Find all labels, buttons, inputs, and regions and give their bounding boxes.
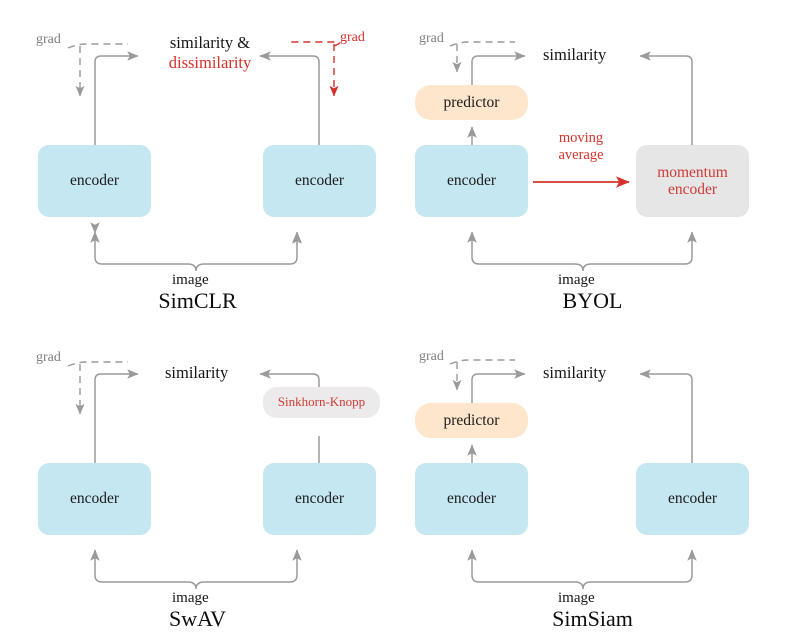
label-grad-left: grad — [36, 32, 61, 48]
label-similarity: similarity & — [160, 33, 260, 53]
box-label: encoder — [295, 172, 344, 189]
label-grad-left: grad — [419, 349, 444, 365]
label-image: image — [172, 590, 209, 607]
panel-simsiam: grad similarity predictor encoder encode… — [395, 318, 790, 636]
label-image: image — [558, 590, 595, 607]
label-grad-left: grad — [36, 350, 61, 366]
label-grad-left: grad — [419, 31, 444, 47]
box-label: encoder — [295, 490, 344, 507]
panel-title-simsiam: SimSiam — [395, 606, 790, 632]
label-average: average — [540, 147, 622, 164]
label-image: image — [558, 272, 595, 289]
label-moving: moving — [540, 130, 622, 147]
box-label: predictor — [444, 412, 500, 429]
panel-simclr: grad grad similarity & dissimilarity enc… — [0, 0, 395, 318]
label-image: image — [172, 272, 209, 289]
box-label-line1: momentum — [657, 164, 728, 181]
byol-encoder[interactable]: encoder — [415, 145, 528, 217]
box-label: predictor — [444, 94, 500, 111]
box-label: encoder — [70, 172, 119, 189]
panel-title-swav: SwAV — [0, 606, 395, 632]
swav-sinkhorn-knopp[interactable]: Sinkhorn-Knopp — [263, 387, 380, 418]
panel-byol: grad similarity predictor encoder moment… — [395, 0, 790, 318]
simclr-encoder-right[interactable]: encoder — [263, 145, 376, 217]
byol-momentum-encoder[interactable]: momentum encoder — [636, 145, 749, 217]
label-similarity: similarity — [543, 45, 606, 65]
self-supervised-methods-figure: grad grad similarity & dissimilarity enc… — [0, 0, 790, 636]
byol-predictor[interactable]: predictor — [415, 85, 528, 120]
label-similarity: similarity — [543, 363, 606, 383]
panel-swav: grad similarity encoder Sinkhorn-Knopp e… — [0, 318, 395, 636]
simsiam-encoder-right[interactable]: encoder — [636, 463, 749, 535]
simsiam-encoder-left[interactable]: encoder — [415, 463, 528, 535]
swav-encoder-left[interactable]: encoder — [38, 463, 151, 535]
simclr-encoder-left[interactable]: encoder — [38, 145, 151, 217]
box-label: encoder — [70, 490, 119, 507]
box-label: encoder — [668, 490, 717, 507]
box-label: encoder — [447, 172, 496, 189]
panel-title-byol: BYOL — [395, 288, 790, 314]
simsiam-predictor[interactable]: predictor — [415, 403, 528, 438]
label-grad-right: grad — [340, 30, 365, 46]
box-label: encoder — [447, 490, 496, 507]
swav-encoder-right[interactable]: encoder — [263, 463, 376, 535]
box-label: Sinkhorn-Knopp — [278, 395, 365, 410]
label-similarity: similarity — [165, 363, 228, 383]
box-label-line2: encoder — [668, 181, 717, 198]
label-dissimilarity: dissimilarity — [160, 53, 260, 73]
panel-title-simclr: SimCLR — [0, 288, 395, 314]
